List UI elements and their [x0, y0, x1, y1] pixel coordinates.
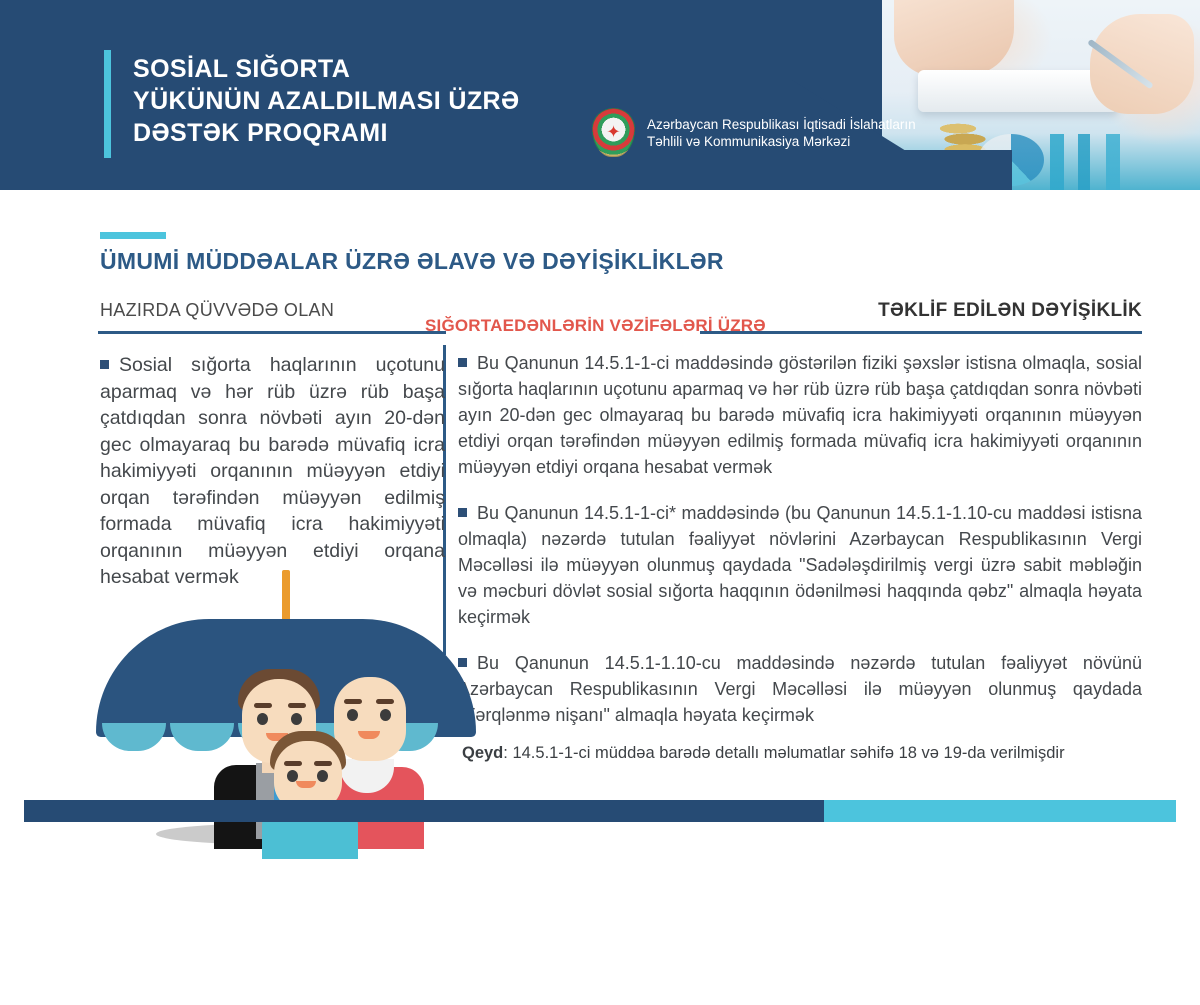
family-under-umbrella-illustration: [96, 755, 476, 1005]
bullet-icon: [458, 508, 467, 517]
eye-shape: [317, 770, 328, 782]
left-column-rule: [98, 331, 446, 334]
footer-bar-navy: [24, 800, 824, 822]
eyebrow-shape: [254, 703, 272, 708]
right-paragraph-3-wrapper: Bu Qanunun 14.5.1-1.10-cu maddəsində nəz…: [458, 650, 1142, 728]
section-accent-bar: [100, 232, 166, 239]
hand-left-shape: [894, 0, 1014, 76]
azerbaijan-state-emblem-icon: ✦: [592, 108, 635, 157]
right-column-body: Bu Qanunun 14.5.1-1-ci maddəsində göstər…: [458, 350, 1142, 764]
eyebrow-shape: [284, 761, 302, 766]
mother-head-shape: [334, 677, 406, 761]
hand-right-shape: [1090, 14, 1194, 114]
eyebrow-shape: [314, 761, 332, 766]
bullet-icon: [100, 360, 109, 369]
eyebrow-shape: [376, 699, 394, 704]
calculator-shape: [918, 70, 1118, 112]
emblem-flame-icon: ✦: [606, 123, 620, 140]
right-paragraph-1: Bu Qanunun 14.5.1-1-ci maddəsində göstər…: [458, 353, 1142, 477]
right-paragraph-1-wrapper: Bu Qanunun 14.5.1-1-ci maddəsində göstər…: [458, 350, 1142, 480]
page-title: SOSİAL SIĞORTA YÜKÜNÜN AZALDILMASI ÜZRƏ …: [133, 53, 603, 149]
title-accent-bar: [104, 50, 111, 158]
organization-name-line-1: Azərbaycan Respublikası İqtisadi İslahat…: [647, 116, 916, 133]
eye-shape: [291, 713, 302, 725]
page-title-line-1: SOSİAL SIĞORTA: [133, 53, 603, 85]
left-column-body: Sosial sığorta haqlarının uçotunu aparma…: [100, 352, 445, 591]
eye-shape: [347, 709, 358, 721]
right-paragraph-2-wrapper: Bu Qanunun 14.5.1-1-ci* maddəsində (bu Q…: [458, 500, 1142, 630]
right-paragraph-3: Bu Qanunun 14.5.1-1.10-cu maddəsində nəz…: [458, 653, 1142, 725]
bullet-icon: [458, 358, 467, 367]
eye-shape: [257, 713, 268, 725]
bullet-icon: [458, 658, 467, 667]
eyebrow-shape: [344, 699, 362, 704]
page-header: SOSİAL SIĞORTA YÜKÜNÜN AZALDILMASI ÜZRƏ …: [0, 0, 1200, 190]
footnote: Qeyd: 14.5.1-1-ci müddəa barədə detallı …: [458, 742, 1142, 764]
footer-bar-cyan: [824, 800, 1176, 822]
right-paragraph-2: Bu Qanunun 14.5.1-1-ci* maddəsində (bu Q…: [458, 503, 1142, 627]
footnote-text: : 14.5.1-1-ci müddəa barədə detallı məlu…: [503, 744, 1064, 762]
organization-name-line-2: Təhlili və Kommunikasiya Mərkəzi: [647, 133, 916, 150]
right-column-rule: [700, 331, 1142, 334]
section-title: ÜMUMİ MÜDDƏALAR ÜZRƏ ƏLAVƏ VƏ DƏYİŞİKLİK…: [100, 248, 724, 275]
bar-chart-shape: [1042, 134, 1200, 190]
organization-block: ✦ Azərbaycan Respublikası İqtisadi İslah…: [592, 108, 916, 157]
organization-name: Azərbaycan Respublikası İqtisadi İslahat…: [647, 116, 916, 150]
right-column-heading: TƏKLİF EDİLƏN DƏYİŞİKLİK: [878, 300, 1142, 322]
page-title-line-2: YÜKÜNÜN AZALDILMASI ÜZRƏ: [133, 85, 603, 117]
left-column-paragraph: Sosial sığorta haqlarının uçotunu aparma…: [100, 354, 445, 588]
left-column-heading: HAZIRDA QÜVVƏDƏ OLAN: [100, 300, 334, 321]
eyebrow-shape: [288, 703, 306, 708]
umbrella-handle-shape: [282, 570, 290, 624]
eye-shape: [380, 709, 391, 721]
page-title-line-3: DƏSTƏK PROQRAMI: [133, 117, 603, 149]
